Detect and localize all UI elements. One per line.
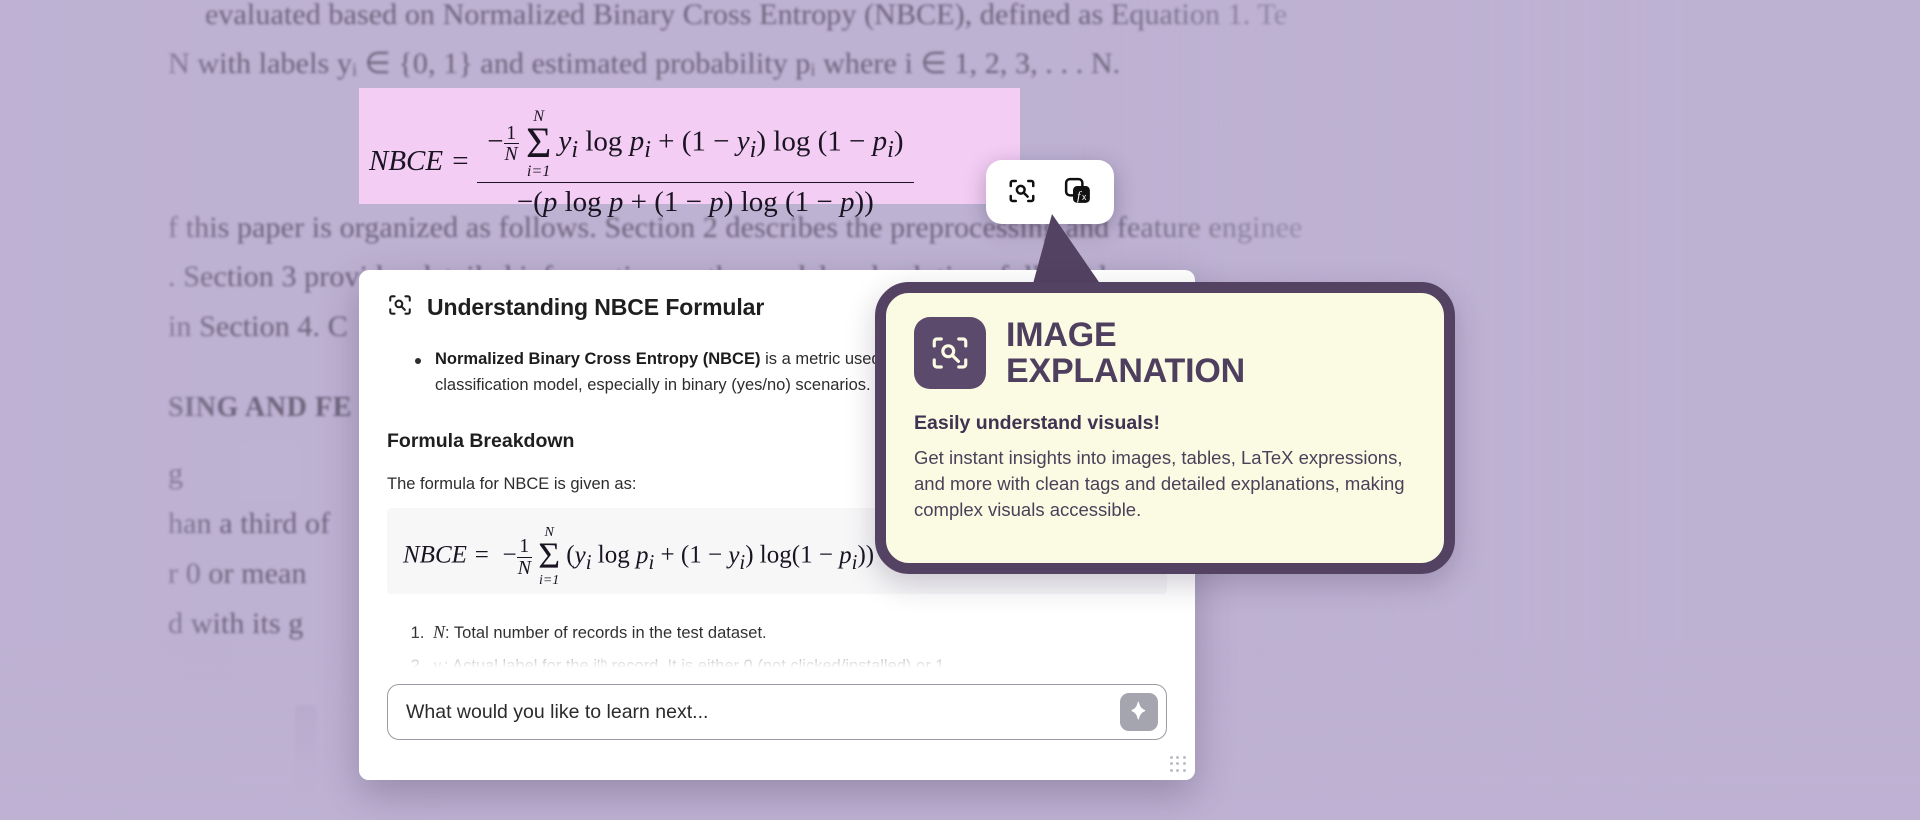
bullet-bold-term: Normalized Binary Cross Entropy (NBCE): [435, 350, 760, 368]
grip-dot: [1183, 762, 1186, 765]
ghost-scan-icon: [238, 440, 300, 502]
formula-lhs: NBCE =: [403, 542, 490, 569]
chat-input[interactable]: [406, 701, 1106, 724]
formula-fx-icon: f x: [1063, 176, 1093, 209]
feature-callout: IMAGE EXPLANATION Easily understand visu…: [875, 282, 1455, 574]
callout-description: Get instant insights into images, tables…: [914, 445, 1416, 524]
list-item-text: : Total number of records in the test da…: [445, 624, 767, 642]
list-item: N: Total number of records in the test d…: [429, 616, 1167, 649]
callout-title: IMAGE EXPLANATION: [1006, 317, 1245, 390]
grip-dot: [1183, 769, 1186, 772]
equation-fraction: −1N NΣi=1 yi log pi + (1 − yi) log (1 − …: [477, 108, 913, 219]
background-equation: NBCE = −1N NΣi=1 yi log pi + (1 − yi) lo…: [369, 108, 914, 219]
doc-line-2: N with labels yᵢ ∈ {0, 1} and estimated …: [168, 46, 1120, 81]
grip-dot: [1170, 756, 1173, 759]
grip-dot: [1176, 762, 1179, 765]
svg-text:x: x: [1082, 192, 1087, 202]
formula-explain-button[interactable]: f x: [1057, 171, 1099, 213]
grip-dot: [1170, 769, 1173, 772]
grip-dot: [1176, 769, 1179, 772]
grip-dot: [1183, 756, 1186, 759]
composer-field-wrapper[interactable]: [387, 684, 1167, 740]
grip-dot: [1170, 762, 1173, 765]
callout-header: IMAGE EXPLANATION: [914, 317, 1416, 390]
grip-dot: [1176, 756, 1179, 759]
scan-explain-button[interactable]: [1001, 171, 1043, 213]
scan-search-icon: [914, 317, 986, 389]
resize-grip[interactable]: [1170, 756, 1187, 773]
send-button[interactable]: [1120, 693, 1158, 731]
bullet-dot-icon: [415, 358, 421, 364]
chat-composer[interactable]: [359, 668, 1195, 780]
callout-title-line1: IMAGE: [1006, 317, 1245, 353]
scan-search-icon: [387, 292, 413, 323]
list-item-variable: N: [433, 622, 445, 642]
scan-explain-icon: [1007, 176, 1037, 209]
screen-root: evaluated based on Normalized Binary Cro…: [0, 0, 1920, 820]
equation-lhs: NBCE =: [369, 145, 470, 177]
sparkle-icon: [1129, 701, 1149, 724]
page-title: Understanding NBCE Formular: [427, 294, 764, 321]
callout-title-line2: EXPLANATION: [1006, 353, 1245, 389]
callout-subtitle: Easily understand visuals!: [914, 412, 1416, 435]
